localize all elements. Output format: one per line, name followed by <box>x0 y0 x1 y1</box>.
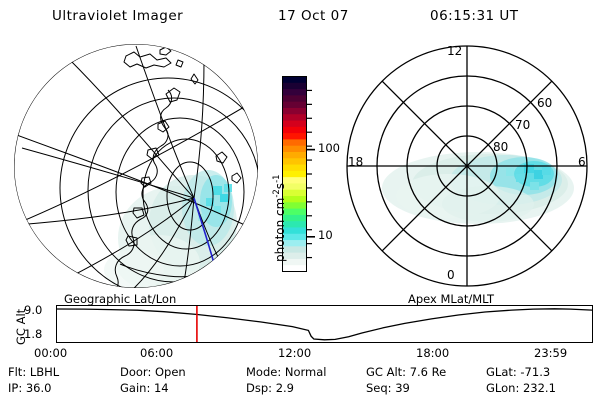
mlt-hour-label: 12 <box>447 44 462 58</box>
status-seq: Seq: 39 <box>366 381 410 395</box>
status-glon-key: GLon: <box>486 381 519 395</box>
timeline-tick-label: 00:00 <box>34 346 67 360</box>
status-gc-alt: GC Alt: 7.6 Re <box>366 365 446 379</box>
status-dsp: Dsp: 2.9 <box>246 381 294 395</box>
altitude-tick-label: 1.8 <box>24 327 42 341</box>
colorbar-unit-text: photon cm <box>273 198 287 262</box>
status-gain-key: Gain: <box>120 381 150 395</box>
colorbar-tick-label: 10 <box>318 228 333 242</box>
status-filter: Flt: LBHL <box>8 365 59 379</box>
mlt-hour-label: 6 <box>578 155 586 169</box>
apex-panel-caption: Apex MLat/MLT <box>408 292 494 306</box>
status-mode-value: Normal <box>285 365 327 379</box>
timeline-tick-label: 23:59 <box>534 346 567 360</box>
status-door: Door: Open <box>120 365 186 379</box>
colorbar-unit-mid: s <box>273 183 287 189</box>
apex-mlat-mlt-panel <box>338 38 596 293</box>
status-door-value: Open <box>155 365 186 379</box>
status-glat: GLat: -71.3 <box>486 365 550 379</box>
status-glon: GLon: 232.1 <box>486 381 556 395</box>
colorbar-unit-exp2: -1 <box>272 174 282 182</box>
orbit-altitude-timeline[interactable] <box>56 305 593 343</box>
status-dsp-value: 2.9 <box>276 381 294 395</box>
status-mode-key: Mode: <box>246 365 281 379</box>
status-gain: Gain: 14 <box>120 381 169 395</box>
mlat-ring-label: 60 <box>537 96 552 110</box>
status-door-key: Door: <box>120 365 151 379</box>
observation-time: 06:15:31 UT <box>430 8 519 24</box>
status-ip-value: 36.0 <box>26 381 52 395</box>
status-seq-value: 39 <box>395 381 410 395</box>
mlat-ring-label: 80 <box>493 140 508 154</box>
mlt-spokes <box>347 46 587 286</box>
status-gc-alt-key: GC Alt: <box>366 365 406 379</box>
page-title: Ultraviolet Imager <box>52 8 183 24</box>
timeline-tick-label: 06:00 <box>140 346 173 360</box>
mlat-ring-label: 70 <box>515 118 530 132</box>
status-ip: IP: 36.0 <box>8 381 51 395</box>
status-filter-key: Flt: <box>8 365 26 379</box>
status-glon-value: 232.1 <box>523 381 556 395</box>
colorbar-tick-marks <box>307 90 316 257</box>
status-gain-value: 14 <box>154 381 169 395</box>
status-ip-key: IP: <box>8 381 22 395</box>
status-filter-value: LBHL <box>30 365 59 379</box>
colorbar-axis-title: photon cm-2s-1 <box>272 174 287 262</box>
geographic-panel-caption: Geographic Lat/Lon <box>64 292 176 306</box>
status-gc-alt-value: 7.6 Re <box>410 365 447 379</box>
status-mode: Mode: Normal <box>246 365 326 379</box>
geographic-projection-panel <box>8 38 270 293</box>
status-glat-value: -71.3 <box>520 365 550 379</box>
altitude-tick-label: 9.0 <box>24 303 42 317</box>
timeline-tick-label: 12:00 <box>278 346 311 360</box>
mlt-hour-label: 0 <box>447 268 455 282</box>
status-seq-key: Seq: <box>366 381 392 395</box>
mlt-hour-label: 18 <box>348 155 363 169</box>
observation-date: 17 Oct 07 <box>278 8 349 24</box>
colorbar-unit-exp1: -2 <box>272 189 282 197</box>
colorbar-tick-label: 100 <box>318 141 340 155</box>
status-dsp-key: Dsp: <box>246 381 272 395</box>
timeline-tick-label: 18:00 <box>416 346 449 360</box>
status-glat-key: GLat: <box>486 365 517 379</box>
intensity-colorbar <box>282 76 324 274</box>
